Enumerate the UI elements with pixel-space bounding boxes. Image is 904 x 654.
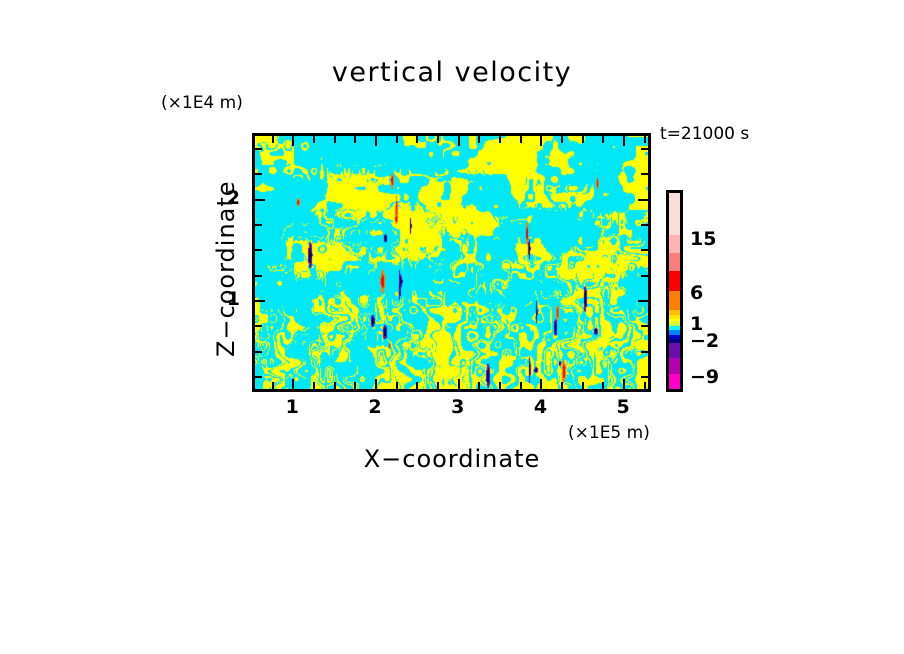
x-tick-mark: [396, 382, 398, 389]
y-tick-mark: [255, 148, 262, 150]
y-tick-mark: [641, 325, 648, 327]
x-axis-unit-label: (×1E5 m): [568, 423, 650, 443]
y-tick-mark: [641, 173, 648, 175]
y-tick-label: 1: [210, 288, 240, 310]
y-tick-mark: [255, 325, 262, 327]
x-tick-mark: [602, 136, 604, 143]
x-tick-label: 1: [272, 396, 312, 418]
y-tick-label: 2: [210, 187, 240, 209]
contour-plot-area[interactable]: [252, 133, 651, 392]
colorbar[interactable]: [666, 190, 683, 392]
x-tick-mark: [272, 382, 274, 389]
x-tick-mark: [520, 382, 522, 389]
y-tick-mark: [255, 199, 265, 201]
x-axis-title: X−coordinate: [252, 445, 652, 473]
y-tick-mark: [638, 199, 648, 201]
x-tick-mark: [334, 382, 336, 389]
x-tick-mark: [437, 136, 439, 143]
x-tick-mark: [520, 136, 522, 143]
colorbar-band: [669, 291, 680, 311]
x-tick-mark: [396, 136, 398, 143]
colorbar-band: [669, 374, 680, 389]
x-tick-mark: [292, 379, 294, 389]
x-tick-mark: [375, 379, 377, 389]
vertical-velocity-field: [255, 136, 648, 389]
x-tick-mark: [416, 136, 418, 143]
colorbar-band: [669, 358, 680, 373]
page-title: vertical velocity: [0, 57, 904, 88]
colorbar-tick-label: 15: [690, 228, 716, 250]
x-tick-label: 5: [603, 396, 643, 418]
y-tick-mark: [641, 148, 648, 150]
x-tick-mark: [458, 136, 460, 146]
y-tick-mark: [255, 224, 262, 226]
colorbar-band: [669, 235, 680, 253]
x-tick-mark: [499, 136, 501, 143]
x-tick-mark: [334, 136, 336, 143]
x-tick-label: 2: [355, 396, 395, 418]
x-tick-mark: [582, 136, 584, 143]
x-tick-mark: [644, 382, 646, 389]
x-tick-mark: [561, 136, 563, 143]
x-tick-mark: [540, 379, 542, 389]
colorbar-band: [669, 343, 680, 358]
x-tick-mark: [499, 382, 501, 389]
x-tick-mark: [437, 382, 439, 389]
y-tick-mark: [255, 249, 262, 251]
y-tick-mark: [255, 351, 262, 353]
x-tick-mark: [602, 382, 604, 389]
x-tick-label: 4: [520, 396, 560, 418]
y-tick-mark: [638, 300, 648, 302]
time-annotation: t=21000 s: [660, 124, 749, 144]
y-tick-mark: [255, 300, 265, 302]
y-tick-mark: [641, 376, 648, 378]
y-tick-mark: [641, 351, 648, 353]
x-tick-mark: [540, 136, 542, 146]
y-tick-mark: [641, 224, 648, 226]
x-tick-mark: [375, 136, 377, 146]
x-tick-label: 3: [438, 396, 478, 418]
y-axis-unit-label: (×1E4 m): [161, 93, 243, 113]
x-tick-mark: [623, 136, 625, 146]
colorbar-band: [669, 271, 680, 291]
x-tick-mark: [313, 136, 315, 143]
x-tick-mark: [354, 382, 356, 389]
colorbar-band: [669, 253, 680, 271]
x-tick-mark: [582, 382, 584, 389]
x-tick-mark: [313, 382, 315, 389]
x-tick-mark: [292, 136, 294, 146]
colorbar-tick-label: −2: [690, 330, 719, 352]
x-tick-mark: [644, 136, 646, 143]
y-tick-mark: [255, 173, 262, 175]
x-tick-mark: [354, 136, 356, 143]
colorbar-tick-label: 6: [690, 282, 703, 304]
x-tick-mark: [561, 382, 563, 389]
x-tick-mark: [458, 379, 460, 389]
x-tick-mark: [478, 136, 480, 143]
x-tick-mark: [272, 136, 274, 143]
x-tick-mark: [416, 382, 418, 389]
x-tick-mark: [478, 382, 480, 389]
y-tick-mark: [641, 249, 648, 251]
y-tick-mark: [641, 275, 648, 277]
x-tick-mark: [623, 379, 625, 389]
colorbar-tick-label: −9: [690, 366, 719, 388]
y-tick-mark: [255, 275, 262, 277]
colorbar-band: [669, 193, 680, 235]
y-tick-mark: [255, 376, 262, 378]
